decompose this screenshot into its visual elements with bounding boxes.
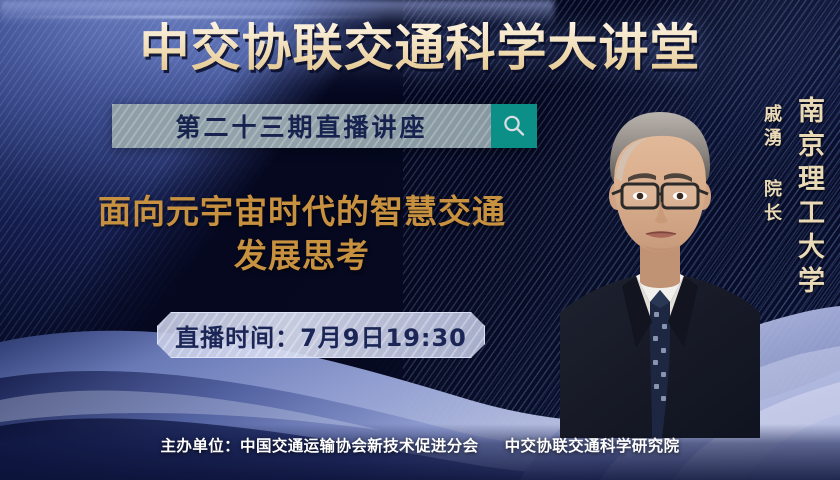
footer-organizers: 主办单位：中国交通运输协会新技术促进分会中交协联交通科学研究院 (0, 434, 840, 456)
speaker-organization: 南京理工大学 (789, 96, 828, 300)
lecture-headline: 面向元宇宙时代的智慧交通 发展思考 (42, 190, 562, 278)
episode-banner-body: 第二十三期直播讲座 (112, 104, 491, 148)
schedule-badge: 直播时间：7月9日19:30 (157, 312, 485, 358)
footer-org-2: 中交协联交通科学研究院 (505, 437, 680, 455)
footer-org-1: 中国交通运输协会新技术促进分会 (240, 437, 479, 455)
speaker-name-title: 戚湧 院长 (758, 104, 784, 227)
headline-line-2: 发展思考 (42, 234, 562, 278)
footer-prefix: 主办单位： (161, 437, 241, 455)
schedule-text: 直播时间：7月9日19:30 (175, 318, 467, 353)
speaker-portrait (560, 86, 760, 438)
page-title: 中交协联交通科学大讲堂 (0, 18, 840, 78)
live-stream-poster: 中交协联交通科学大讲堂 第二十三期直播讲座 面向元宇宙时代的智慧交通 发展思考 … (0, 0, 840, 480)
headline-line-1: 面向元宇宙时代的智慧交通 (98, 192, 506, 231)
episode-banner: 第二十三期直播讲座 (112, 104, 537, 148)
search-icon[interactable] (491, 104, 537, 148)
episode-label: 第二十三期直播讲座 (175, 108, 427, 144)
